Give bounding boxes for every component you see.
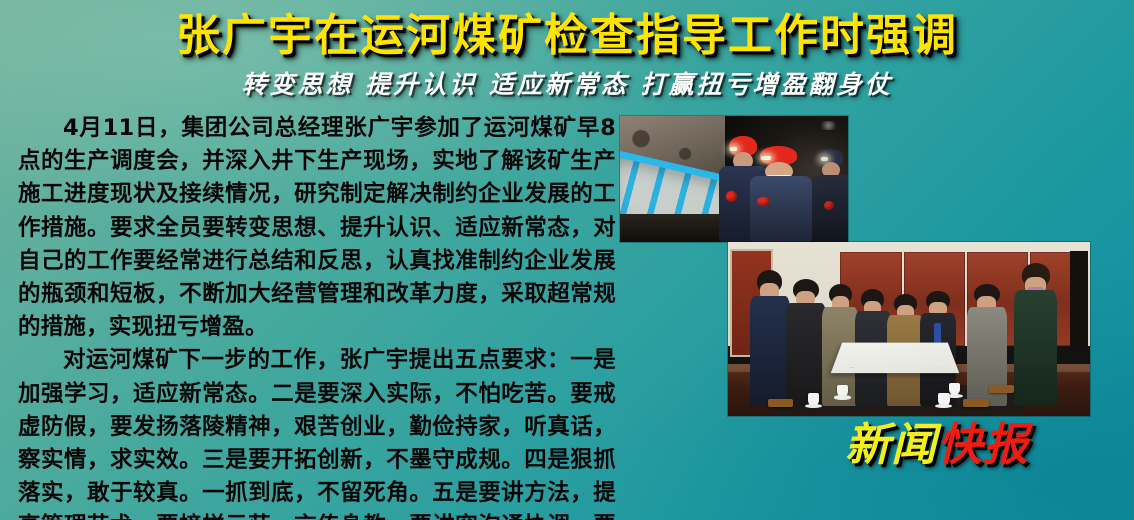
bulletin-badge: 新闻快报 bbox=[845, 418, 1029, 472]
attendee-torso bbox=[786, 303, 826, 406]
article-paragraph-2: 对运河煤矿下一步的工作，张广宇提出五点要求：一是加强学习，适应新常态。二是要深入… bbox=[18, 344, 616, 520]
attendee-torso bbox=[1014, 290, 1057, 406]
meeting-room-photo bbox=[728, 242, 1090, 416]
news-poster: 张广宇在运河煤矿检查指导工作时强调 转变思想 提升认识 适应新常态 打赢扭亏增盈… bbox=[0, 0, 1134, 520]
mine-inspection-photo bbox=[620, 116, 848, 242]
attendee bbox=[786, 279, 826, 406]
miner-lamp-icon bbox=[726, 191, 737, 202]
miner-uniform bbox=[750, 176, 812, 242]
page-title: 张广宇在运河煤矿检查指导工作时强调 bbox=[0, 8, 1134, 64]
notebook bbox=[989, 385, 1014, 394]
miner-lamp-icon bbox=[824, 201, 834, 210]
tea-cup bbox=[949, 383, 961, 395]
attendee bbox=[1014, 263, 1057, 406]
tea-cup bbox=[837, 385, 849, 397]
page-subtitle: 转变思想 提升认识 适应新常态 打赢扭亏增盈翻身仗 bbox=[0, 68, 1134, 102]
blueprint-map bbox=[830, 343, 958, 373]
article-body: 4月11日，集团公司总经理张广宇参加了运河煤矿早8点的生产调度会，并深入井下生产… bbox=[18, 112, 616, 520]
attendee bbox=[750, 270, 790, 406]
miner-front bbox=[750, 146, 812, 242]
mine-ceiling-light bbox=[818, 121, 839, 130]
article-paragraph-1: 4月11日，集团公司总经理张广宇参加了运河煤矿早8点的生产调度会，并深入井下生产… bbox=[18, 112, 616, 344]
tea-cup bbox=[808, 393, 820, 405]
attendee-torso bbox=[750, 296, 790, 406]
miner-far-right bbox=[812, 149, 848, 242]
bulletin-label-express: 快报 bbox=[937, 418, 1029, 471]
miner-lamp-icon bbox=[757, 197, 769, 206]
notebook bbox=[768, 399, 793, 408]
notebook bbox=[963, 399, 988, 408]
bulletin-label-news: 新闻 bbox=[845, 418, 937, 471]
doorway-opening bbox=[1070, 251, 1088, 348]
